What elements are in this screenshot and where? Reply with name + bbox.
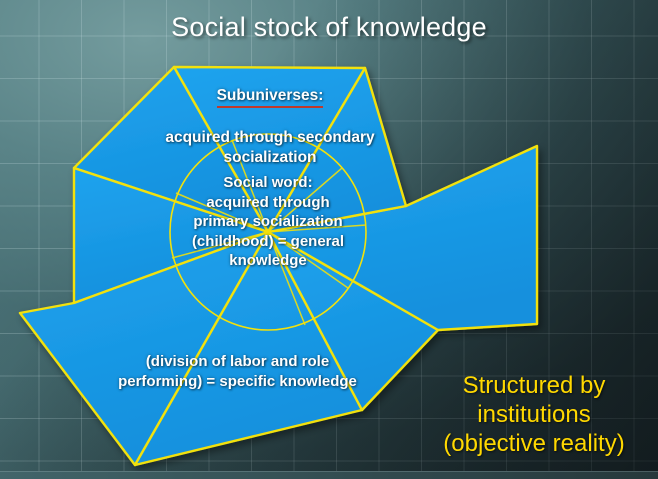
subuniverses-label: Subuniverses: acquired through secondary…	[148, 66, 392, 168]
subuniverses-heading: Subuniverses:	[217, 86, 324, 108]
page-title: Social stock of knowledge	[0, 12, 658, 43]
slide-footer-bar	[0, 471, 658, 479]
slide-canvas: 0%" stop-color="#9ea234"/>	[0, 0, 658, 479]
subuniverses-body: acquired through secondary socialization	[165, 129, 374, 166]
specific-knowledge-label: (division of labor and role performing) …	[95, 352, 380, 392]
core-label: Social word: acquired through primary so…	[178, 173, 358, 271]
structured-by-institutions-note: Structured by institutions (objective re…	[414, 372, 654, 458]
